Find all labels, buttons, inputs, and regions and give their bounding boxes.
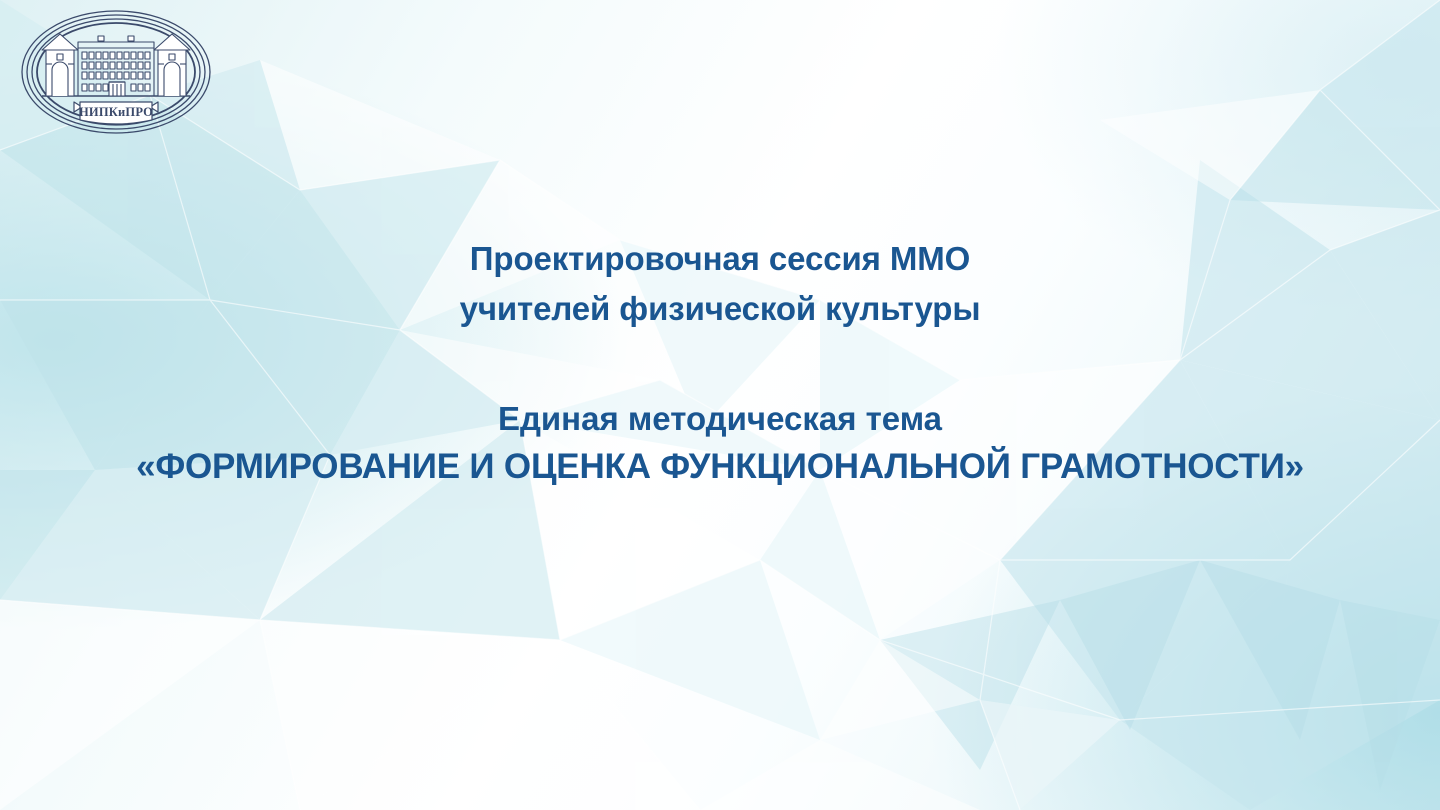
slide-title: Проектировочная сессия ММО учителей физи… — [0, 234, 1440, 334]
logo-ribbon-text: НИПКиПРО — [79, 105, 153, 119]
nipkipro-logo: НИПКиПРО — [16, 6, 216, 138]
theme-title: «ФОРМИРОВАНИЕ И ОЦЕНКА ФУНКЦИОНАЛЬНОЙ ГР… — [0, 442, 1440, 492]
theme-label: Единая методическая тема — [0, 396, 1440, 442]
title-line-2: учителей физической культуры — [0, 284, 1440, 334]
title-line-1: Проектировочная сессия ММО — [0, 234, 1440, 284]
logo-building-icon — [42, 34, 190, 96]
presentation-slide: НИПКиПРО Проектировочная сессия ММО учит… — [0, 0, 1440, 810]
theme-block: Единая методическая тема «ФОРМИРОВАНИЕ И… — [0, 396, 1440, 492]
